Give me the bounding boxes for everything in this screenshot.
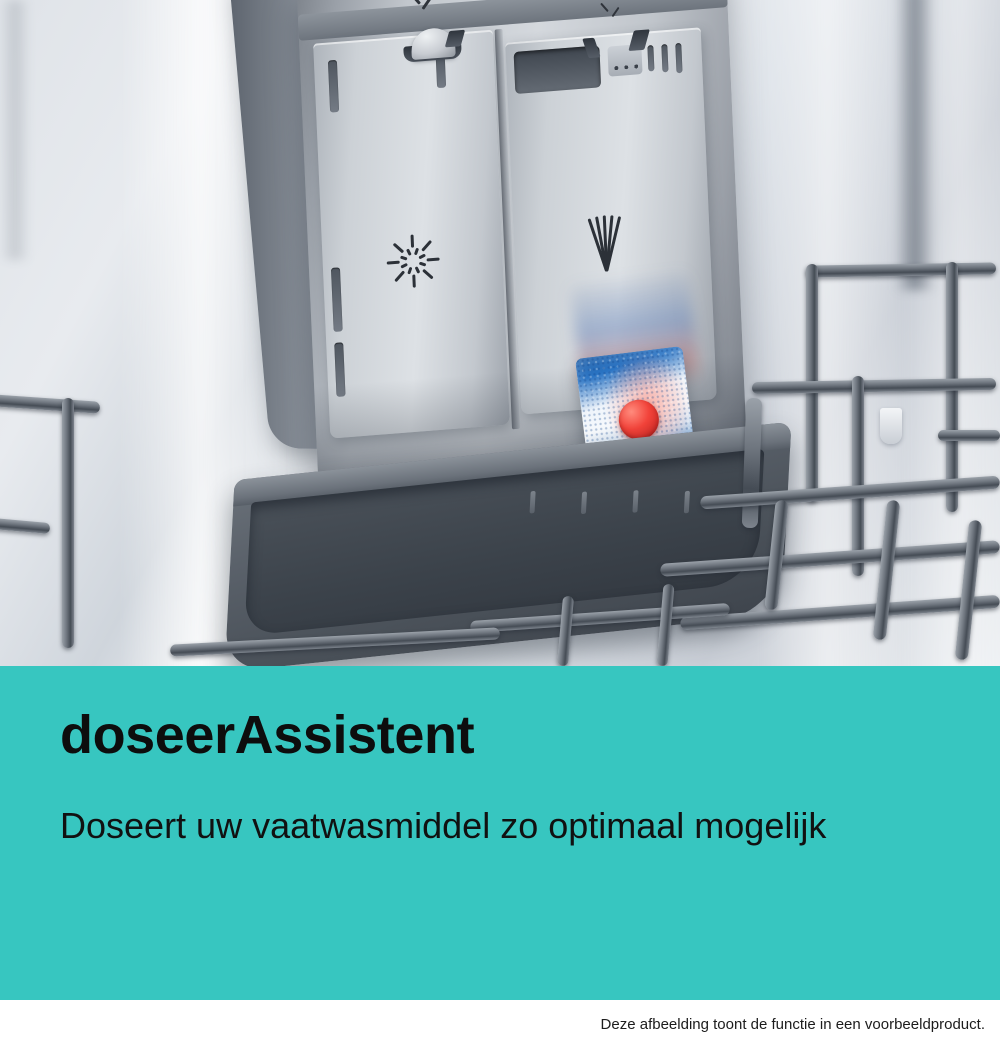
flap-vent-slot xyxy=(661,44,668,72)
feature-text-band: doseerAssistent Doseert uw vaatwasmiddel… xyxy=(0,666,1000,1000)
rack-wall-clip xyxy=(880,408,902,444)
feature-card: doseerAssistent Doseert uw vaatwasmiddel… xyxy=(0,0,1000,1050)
flap-vent-slot xyxy=(331,267,343,332)
interior-wall-shadow xyxy=(895,0,935,290)
double-chevron-down-icon xyxy=(598,3,625,31)
rack-wire-horizontal xyxy=(938,430,1000,441)
fan-lines-icon xyxy=(573,209,636,278)
rack-wire-vertical xyxy=(852,376,864,576)
rack-wire-horizontal xyxy=(0,394,100,414)
feature-title: doseerAssistent xyxy=(60,706,474,764)
flap-vent-slot xyxy=(328,60,339,113)
feature-subtitle: Doseert uw vaatwasmiddel zo optimaal mog… xyxy=(60,802,860,850)
footer-area: Deze afbeelding toont de functie in een … xyxy=(0,1000,1000,1050)
rack-wire-vertical xyxy=(62,398,74,648)
flap-vent-slot xyxy=(647,45,654,71)
rack-wire-horizontal xyxy=(0,517,50,534)
product-feature-photo xyxy=(0,0,1000,667)
flap-vent-slot xyxy=(675,43,682,73)
rinse-aid-flap xyxy=(313,30,510,439)
image-disclaimer-caption: Deze afbeelding toont de functie in een … xyxy=(601,1016,985,1033)
flap-vent-slot xyxy=(334,342,345,397)
double-chevron-down-icon xyxy=(407,0,434,22)
sun-sparkle-icon xyxy=(379,226,446,295)
interior-wall-shadow xyxy=(0,0,30,260)
